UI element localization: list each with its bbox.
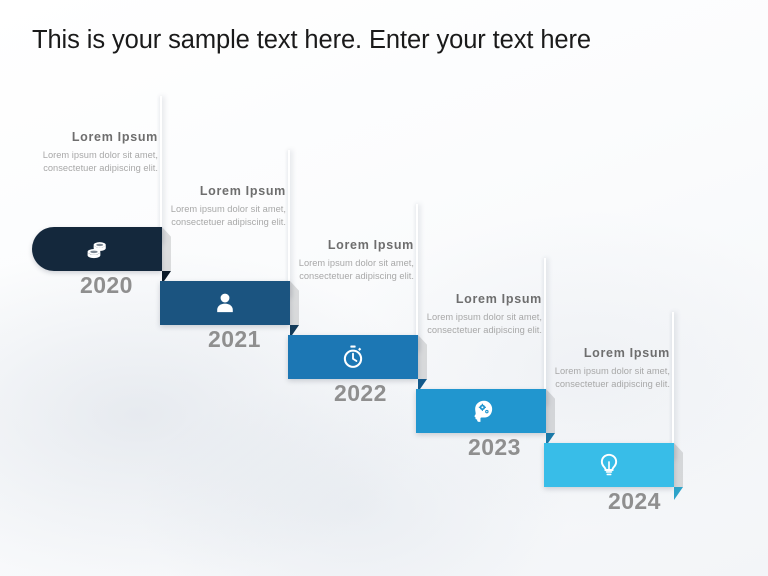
page-title: This is your sample text here. Enter you… (32, 26, 591, 55)
step-bar[interactable] (288, 335, 418, 379)
step-card-title: Lorem Ipsum (290, 238, 414, 253)
slide-canvas: This is your sample text here. Enter you… (0, 0, 768, 576)
step-text-card: Lorem Ipsum Lorem ipsum dolor sit amet, … (290, 238, 414, 284)
step-year-label: 2024 (608, 488, 661, 515)
step-text-card: Lorem Ipsum Lorem ipsum dolor sit amet, … (418, 292, 542, 338)
step-bar[interactable] (32, 227, 162, 271)
step-year-label: 2021 (208, 326, 261, 353)
lightbulb-icon (596, 452, 622, 478)
step-text-card: Lorem Ipsum Lorem ipsum dolor sit amet, … (162, 184, 286, 230)
step-card-body: Lorem ipsum dolor sit amet, consectetuer… (418, 311, 542, 338)
step-card-body: Lorem ipsum dolor sit amet, consectetuer… (546, 365, 670, 392)
step-bar-tail (674, 487, 683, 500)
step-card-body: Lorem ipsum dolor sit amet, consectetuer… (34, 149, 158, 176)
step-card-title: Lorem Ipsum (162, 184, 286, 199)
step-card-title: Lorem Ipsum (34, 130, 158, 145)
head-gears-icon (468, 398, 494, 424)
step-bar-edge-shadow (674, 443, 683, 487)
step-text-card: Lorem Ipsum Lorem ipsum dolor sit amet, … (546, 346, 670, 392)
step-year-label: 2023 (468, 434, 521, 461)
stopwatch-icon (340, 344, 366, 370)
step-bar[interactable] (160, 281, 290, 325)
step-year-label: 2020 (80, 272, 133, 299)
step-connector-line (672, 312, 674, 460)
step-card-title: Lorem Ipsum (418, 292, 542, 307)
step-bar[interactable] (416, 389, 546, 433)
step-text-card: Lorem Ipsum Lorem ipsum dolor sit amet, … (34, 130, 158, 176)
step-card-body: Lorem ipsum dolor sit amet, consectetuer… (290, 257, 414, 284)
step-bar-edge-shadow (418, 335, 427, 379)
step-card-body: Lorem ipsum dolor sit amet, consectetuer… (162, 203, 286, 230)
coins-icon (84, 236, 110, 262)
step-year-label: 2022 (334, 380, 387, 407)
step-bar-edge-shadow (162, 227, 171, 271)
step-bar-edge-shadow (290, 281, 299, 325)
step-bar[interactable] (544, 443, 674, 487)
step-bar-edge-shadow (546, 389, 555, 433)
step-card-title: Lorem Ipsum (546, 346, 670, 361)
person-icon (212, 290, 238, 316)
